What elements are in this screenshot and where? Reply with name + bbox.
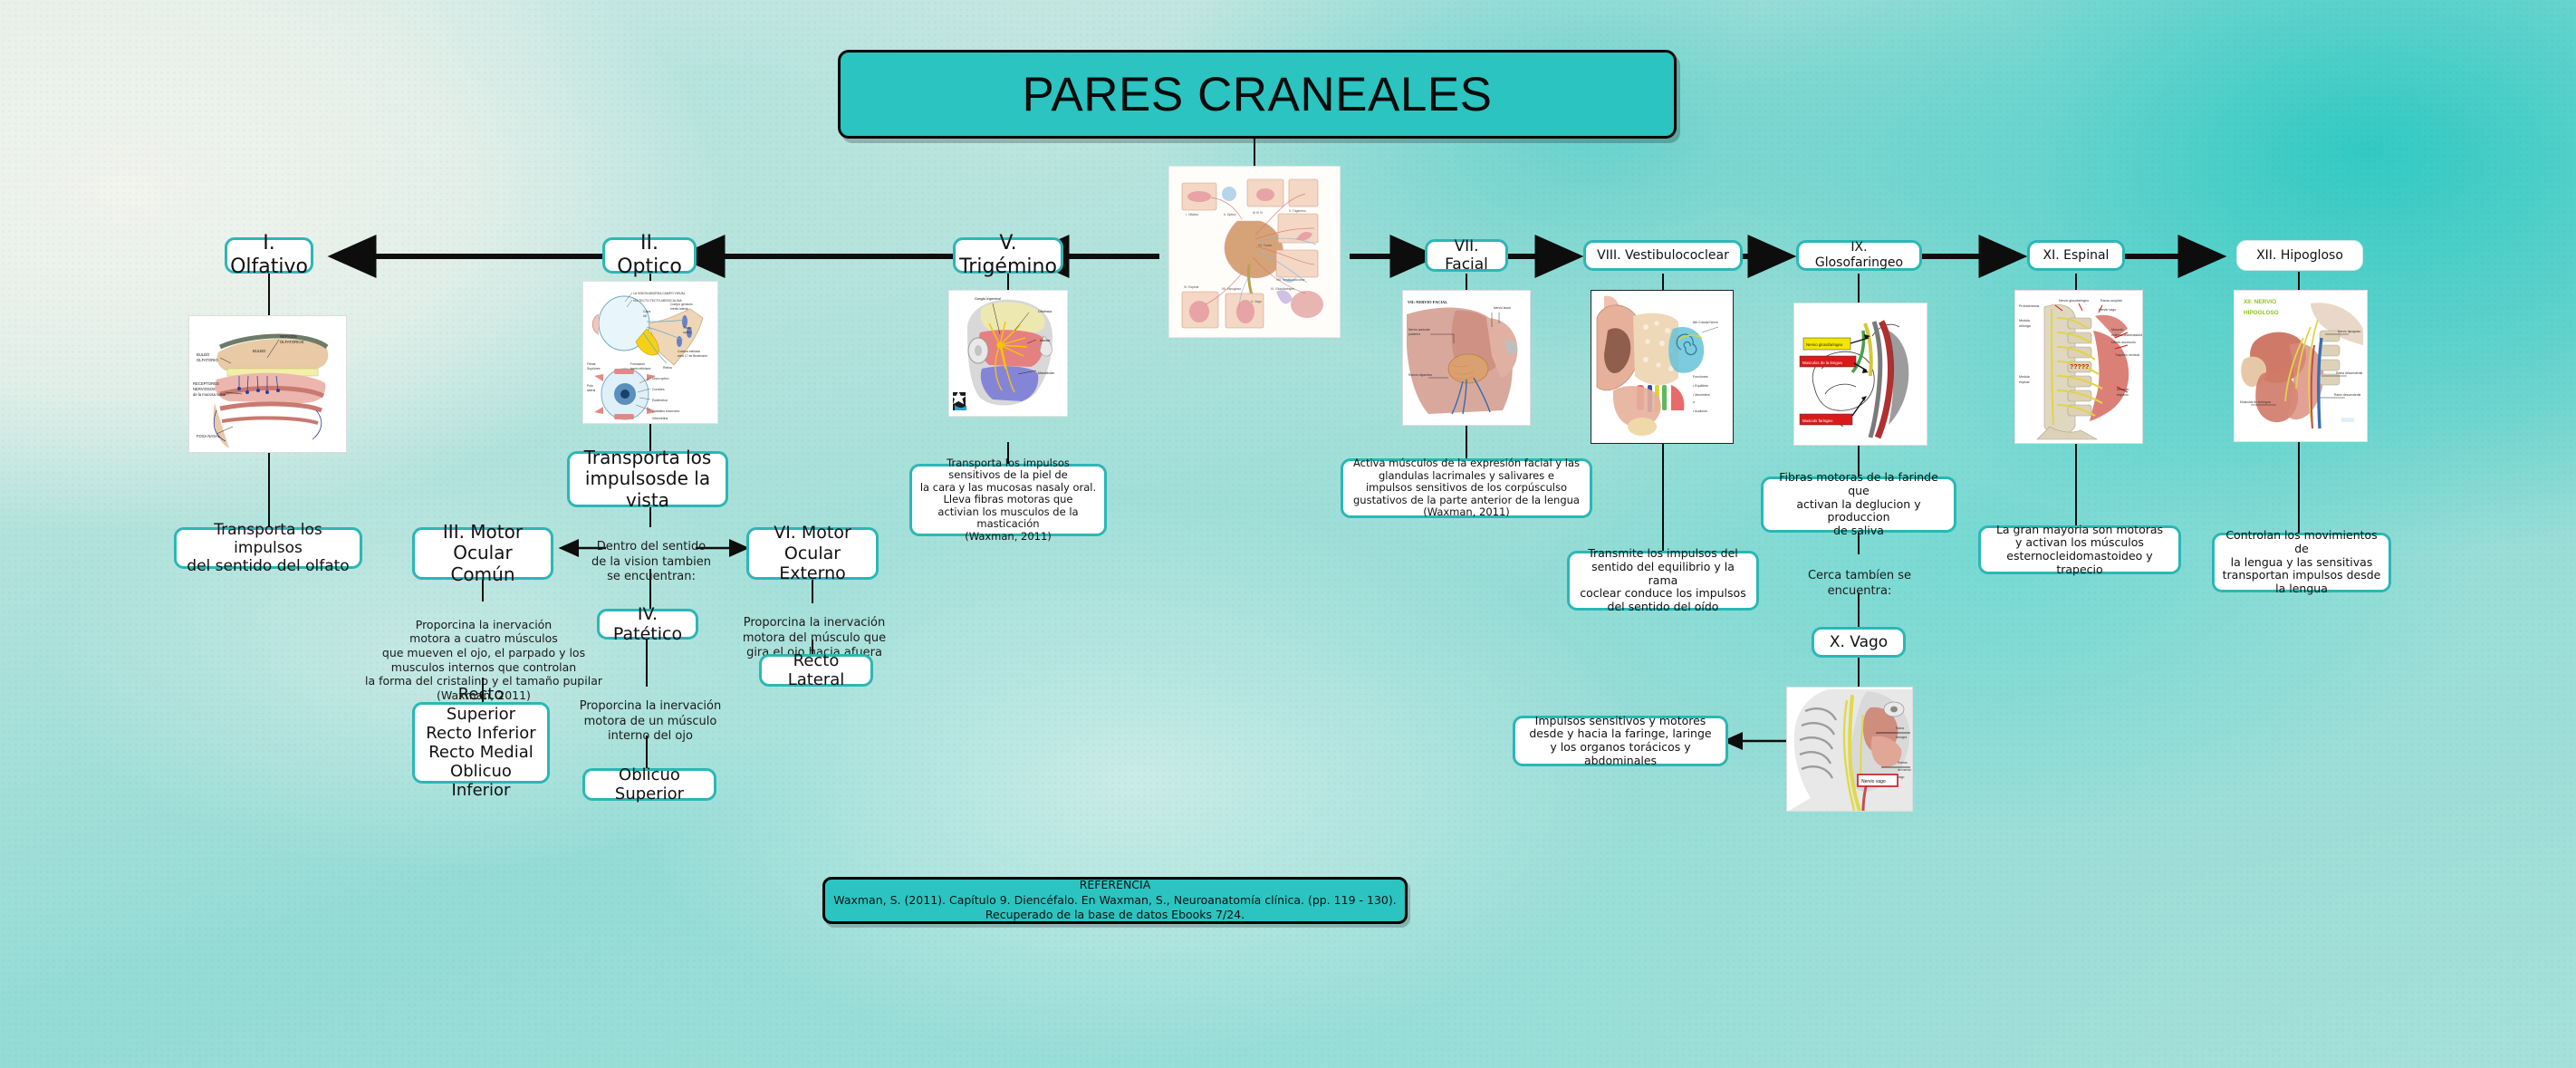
svg-text:HIPOGLOSO: HIPOGLOSO — [2244, 310, 2279, 316]
node-desc-olfativo: Transporta los impulsos del sentido del … — [174, 527, 362, 569]
node-label: XI. Espinal — [2043, 248, 2110, 264]
reference-line-2: Recuperado de la base de datos Ebooks 7/… — [985, 908, 1245, 923]
node-label: IV. Patético — [607, 604, 688, 645]
caption-desc-patetico: Proporcina la inervación motora de un mú… — [569, 685, 732, 744]
svg-text:posterior: posterior — [1408, 332, 1421, 336]
svg-text:vago: vago — [1898, 775, 1904, 779]
svg-text:o: o — [1693, 400, 1695, 404]
svg-text:RECEPTORES: RECEPTORES — [193, 381, 219, 386]
caption-optico-bridge: Dentro del sentido de la vision tambien … — [569, 525, 734, 584]
svg-text:Ganglio trigeminal: Ganglio trigeminal — [975, 297, 1001, 301]
image-hipogloso-tongue-nerve: XII: NERVIOHIPOGLOSO Nervio hipogloso Ra… — [2234, 290, 2368, 442]
node-nerve-ii-optico[interactable]: II. Optico — [602, 237, 697, 274]
svg-text:• Movimient: • Movimient — [1693, 393, 1710, 397]
svg-text:Disco optico: Disco optico — [652, 377, 669, 380]
node-label: I. Olfativo — [230, 232, 308, 279]
svg-text:BULBO: BULBO — [197, 352, 210, 357]
svg-text:Rama: Rama — [1896, 726, 1904, 730]
svg-text:X. Vago: X. Vago — [1251, 300, 1262, 303]
node-nerve-x-vago[interactable]: X. Vago — [1812, 627, 1906, 658]
svg-text:NERVIOSOS: NERVIOSOS — [193, 387, 216, 391]
svg-text:Nervio hipogloso: Nervio hipogloso — [2338, 330, 2360, 333]
image-olfativo-nasal-cavity: NERVIOSOLFATORIOS BULBO BULBOOLFATORIO R… — [188, 315, 347, 453]
svg-text:Coroides: Coroides — [652, 388, 665, 391]
caption-text: Proporcina la inervación motora de un mú… — [580, 699, 722, 743]
node-desc-vago: Impulsos sensitivos y motores desde y ha… — [1513, 716, 1728, 766]
svg-text:VII: NERVIO FACIAL: VII: NERVIO FACIAL — [1408, 300, 1447, 304]
svg-text:II. Optico: II. Optico — [1224, 213, 1236, 216]
svg-text:Ramo descendente: Ramo descendente — [2334, 393, 2361, 397]
svg-text:Cuerpo geniculo: Cuerpo geniculo — [670, 303, 693, 306]
image-glosofaringeo-pharynx: Nervio glosofaringeo Musculos de la leng… — [1793, 303, 1927, 446]
svg-text:Esclerotica: Esclerotica — [652, 399, 668, 402]
svg-text:Nervio glosofaringeo: Nervio glosofaringeo — [2059, 299, 2089, 303]
svg-text:optico: optico — [683, 331, 691, 334]
svg-text:Nervio vago: Nervio vago — [2099, 308, 2116, 312]
svg-text:Musculos de la lengua: Musculos de la lengua — [1802, 361, 1842, 365]
svg-text:OLFATORIOS: OLFATORIOS — [280, 340, 304, 344]
image-espinal-accessory-nerve: ????? Nervio glosofaringeoRama occipital… — [2014, 290, 2143, 444]
svg-text:Vitreoretina: Vitreoretina — [652, 417, 668, 420]
svg-text:Supriores: Supriores — [587, 367, 601, 370]
node-text: La gran mayoria son motoras y activan lo… — [1988, 524, 2171, 577]
node-text: Fibras motoras de la farinde que activan… — [1771, 471, 1946, 538]
node-desc-optico: Transporta los impulsosde la vista — [567, 451, 728, 507]
svg-text:lateral: lateral — [587, 389, 595, 392]
svg-text:faringea: faringea — [1896, 736, 1907, 739]
svg-text:Nervio auricular: Nervio auricular — [1408, 328, 1431, 332]
svg-text:Musculos de la lengua: Musculos de la lengua — [2240, 400, 2271, 404]
svg-text:medio lateral: medio lateral — [670, 307, 688, 311]
node-nerve-iii-motor-ocular-comun[interactable]: III. Motor Ocular Común — [412, 527, 553, 580]
node-nerve-iv-patetico[interactable]: IV. Patético — [597, 609, 698, 640]
node-desc-facial: Activa músculos de la expresión facial y… — [1341, 458, 1592, 518]
svg-text:Funciones: Funciones — [1693, 375, 1708, 379]
svg-text:VII. Facial: VII. Facial — [1258, 244, 1272, 247]
svg-text:Musculo: Musculo — [2111, 328, 2123, 332]
svg-text:Capa: Capa — [643, 310, 650, 313]
svg-text:espinal: espinal — [2019, 380, 2030, 384]
svg-text:OLFATORIO: OLFATORIO — [197, 358, 218, 362]
svg-text:n5: n5 — [643, 314, 647, 318]
svg-text:Nervio facial: Nervio facial — [1494, 306, 1511, 310]
svg-text:Protuberancia: Protuberancia — [2019, 304, 2039, 308]
node-text: Controlan los movimientos de la lengua y… — [2222, 529, 2381, 596]
node-text: Transporta los impulsos del sentido del … — [184, 521, 352, 575]
node-nerve-vii-facial[interactable]: VII. Facial — [1425, 239, 1508, 272]
node-nerve-viii-vestibulococlear[interactable]: VIII. Vestibulococlear — [1583, 240, 1743, 271]
svg-text:VIII. Vestibulococlear: VIII. Vestibulococlear — [1276, 278, 1306, 282]
svg-text:Medula: Medula — [2019, 319, 2030, 322]
svg-text:Medula: Medula — [2019, 375, 2030, 379]
svg-text:V. Trigémino: V. Trigémino — [1289, 209, 1306, 213]
svg-text:Ramas: Ramas — [1898, 761, 1908, 765]
page-title-text: PARES CRANEALES — [1022, 67, 1492, 122]
svg-text:Nervio accesorio: Nervio accesorio — [2111, 341, 2136, 344]
svg-text:Retina: Retina — [663, 366, 672, 370]
svg-text:Musculo faringeo: Musculo faringeo — [1802, 419, 1833, 423]
node-musculo-motor-ocular-externo: Recto Lateral — [759, 654, 873, 687]
svg-text:trapecio: trapecio — [2117, 393, 2129, 397]
caption-text: Cerca tambíen se encuentra: — [1808, 569, 1911, 597]
node-text: Recto Lateral — [769, 651, 863, 689]
reference-heading: REFERENCIA — [1080, 878, 1151, 893]
node-nerve-xii-hipogloso[interactable]: XII. Hipogloso — [2236, 240, 2363, 271]
image-vago-neck-dissection: Nervio vago Ramafaringea Ramasdel nervio… — [1786, 687, 1913, 812]
svg-text:FOSA NASAL: FOSA NASAL — [197, 434, 221, 438]
svg-text:Cristalino biconvexo: Cristalino biconvexo — [652, 409, 679, 413]
node-label: VI. Motor Ocular Externo — [756, 523, 869, 583]
svg-text:Fibras: Fibras — [587, 362, 596, 366]
svg-text:Mandibular: Mandibular — [1038, 371, 1055, 375]
node-musculos-motor-ocular-comun: Recto Superior Recto Inferior Recto Medi… — [412, 702, 550, 784]
page-title: PARES CRANEALES — [838, 50, 1677, 139]
svg-text:Tracto: Tracto — [683, 326, 692, 330]
svg-text:BULBO: BULBO — [253, 349, 266, 353]
node-desc-espinal: La gran mayoria son motoras y activan lo… — [1978, 525, 2181, 574]
node-label: X. Vago — [1830, 633, 1888, 651]
svg-text:I. Olfativo: I. Olfativo — [1186, 213, 1198, 216]
node-nerve-i-olfativo[interactable]: I. Olfativo — [225, 237, 313, 274]
node-desc-vestibulococlear: Transmite los impulsos del sentido del e… — [1567, 551, 1759, 611]
image-trigemino-head: Ganglio trigeminal Oftalmica Maxilar Man… — [948, 290, 1068, 417]
node-desc-glosofaringeo: Fibras motoras de la farinde que activan… — [1761, 476, 1956, 533]
node-label: II. Optico — [614, 232, 685, 279]
svg-text:area 17 de Brodmann: area 17 de Brodmann — [678, 354, 707, 358]
caption-glosofaringeo-bridge: Cerca tambíen se encuentra: — [1792, 554, 1927, 599]
node-label: XII. Hipogloso — [2256, 248, 2343, 264]
node-label: IX. Glosofaringeo — [1806, 240, 1912, 270]
reference-line-1: Waxman, S. (2011). Capítulo 9. Diencéfal… — [833, 893, 1396, 909]
node-text: Oblicuo Superior — [592, 765, 706, 803]
svg-text:Rama occipital: Rama occipital — [2100, 299, 2122, 303]
svg-text:tracto retiniano: tracto retiniano — [630, 367, 651, 370]
image-optico-eye-retina: LA VISION ABORDA CAMPO VISUAL VIA TECTO-… — [582, 281, 718, 424]
svg-text:Polo: Polo — [587, 384, 593, 388]
node-text: Transmite los impulsos del sentido del e… — [1577, 547, 1749, 614]
svg-text:Nervio vago: Nervio vago — [1861, 779, 1886, 784]
svg-text:del nervio: del nervio — [1898, 768, 1911, 772]
node-nerve-v-trigemino[interactable]: V. Trigémino — [953, 237, 1063, 274]
image-center-brain-overview: I. OlfativoII. Optico III IV VIV. Trigém… — [1168, 166, 1341, 338]
node-label: VII. Facial — [1435, 237, 1498, 274]
node-label: III. Motor Ocular Común — [422, 522, 543, 586]
svg-text:esternocleidomastoideo: esternocleidomastoideo — [2111, 333, 2143, 337]
svg-text:Rama descendente: Rama descendente — [2336, 371, 2363, 375]
svg-text:Corteza estriada: Corteza estriada — [678, 350, 700, 353]
svg-text:?????: ????? — [2070, 364, 2089, 370]
reference-box: REFERENCIA Waxman, S. (2011). Capítulo 9… — [822, 877, 1408, 924]
svg-text:III IV VI: III IV VI — [1253, 211, 1263, 215]
svg-text:oblonga: oblonga — [2019, 324, 2031, 328]
svg-text:Nervio glosofaringeo: Nervio glosofaringeo — [1806, 342, 1843, 347]
node-label: VIII. Vestibulococlear — [1597, 248, 1729, 264]
svg-text:8th Cranial Nerve: 8th Cranial Nerve — [1693, 321, 1718, 324]
node-text: Transporta los impulsos sensitivos de la… — [918, 457, 1098, 544]
svg-text:XII. Hipogloso: XII. Hipogloso — [1222, 287, 1241, 291]
node-musculo-patetico: Oblicuo Superior — [582, 768, 716, 801]
svg-text:Maxilar: Maxilar — [1040, 339, 1051, 342]
node-desc-trigemino: Transporta los impulsos sensitivos de la… — [909, 464, 1107, 536]
svg-text:Oftalmica: Oftalmica — [1038, 310, 1052, 313]
node-desc-hipogloso: Controlan los movimientos de la lengua y… — [2212, 533, 2391, 592]
node-nerve-ix-glosofaringeo[interactable]: IX. Glosofaringeo — [1796, 240, 1922, 271]
node-text: Transporta los impulsosde la vista — [579, 447, 716, 512]
caption-text: Dentro del sentido de la vision tambien … — [591, 540, 711, 583]
svg-text:• Equilibrio: • Equilibrio — [1693, 384, 1708, 388]
node-nerve-xi-espinal[interactable]: XI. Espinal — [2027, 240, 2125, 271]
node-text: Impulsos sensitivos y motores desde y ha… — [1523, 715, 1718, 768]
svg-text:Trapecio cervical: Trapecio cervical — [2115, 353, 2139, 357]
svg-text:XII: NERVIO: XII: NERVIO — [2244, 299, 2276, 305]
svg-text:• Audicion: • Audicion — [1693, 409, 1707, 413]
node-text: Activa músculos de la expresión facial y… — [1353, 457, 1580, 519]
svg-text:IX. Glosofaringeo: IX. Glosofaringeo — [1271, 287, 1294, 291]
node-nerve-vi-motor-ocular-externo[interactable]: VI. Motor Ocular Externo — [746, 527, 879, 580]
svg-text:Musculo: Musculo — [2117, 388, 2129, 391]
node-text: Recto Superior Recto Inferior Recto Medi… — [422, 685, 540, 800]
node-label: V. Trigémino — [959, 232, 1057, 279]
svg-text:de la mucosa nasal: de la mucosa nasal — [193, 392, 226, 397]
svg-text:XI. Espinal: XI. Espinal — [1184, 285, 1198, 289]
image-facial-nerve-dissection: VII: NERVIO FACIAL Nervio facial Nervio … — [1402, 290, 1531, 426]
svg-text:NERVIOS: NERVIOS — [280, 334, 297, 339]
image-vestibulococlear-inner-ear: 8th Cranial Nerve Funciones • Equilibrio… — [1591, 290, 1734, 444]
svg-text:Ramos digastrico: Ramos digastrico — [1408, 373, 1432, 377]
svg-text:LA VISION ABORDA CAMPO VISUAL: LA VISION ABORDA CAMPO VISUAL — [633, 292, 686, 295]
svg-text:Formacion: Formacion — [630, 362, 645, 366]
